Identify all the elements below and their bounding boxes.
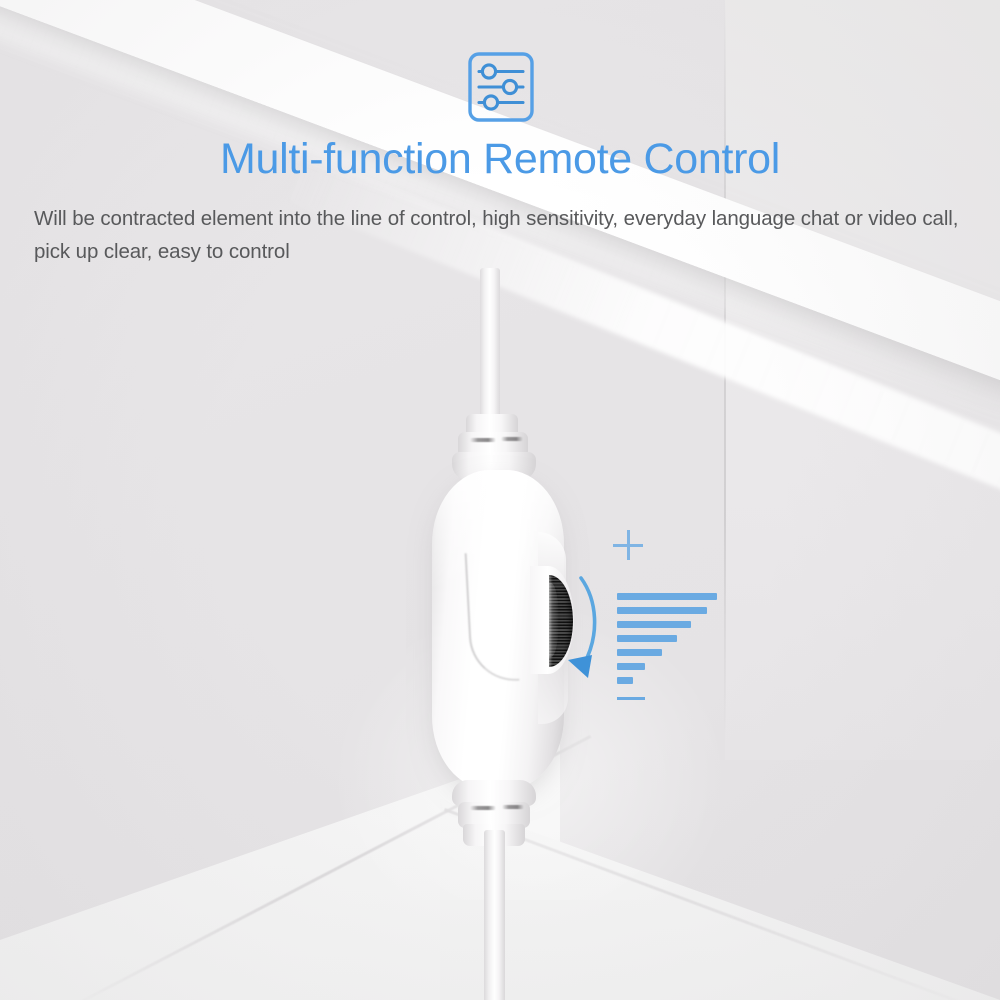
volume-level-bar xyxy=(617,621,691,628)
curved-rotation-arrow xyxy=(548,560,628,700)
volume-callout-graphics xyxy=(0,0,1000,1000)
volume-level-bars xyxy=(617,593,737,691)
product-feature-banner: Multi-function Remote Control Will be co… xyxy=(0,0,1000,1000)
volume-level-bar xyxy=(617,593,717,600)
volume-level-bar xyxy=(617,607,707,614)
volume-up-plus-icon xyxy=(613,530,643,560)
